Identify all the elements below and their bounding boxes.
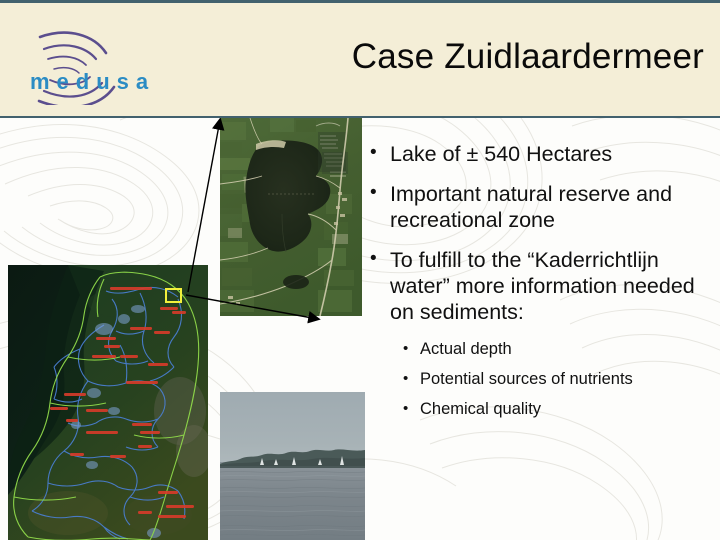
page-title: Case Zuidlaardermeer xyxy=(352,37,704,77)
sub-bullet-list: Actual depth Potential sources of nutrie… xyxy=(368,339,708,420)
bullet-list: Lake of ± 540 Hectares Important natural… xyxy=(368,141,708,429)
bullet-item: To fulfill to the “Kaderrichtlijn water”… xyxy=(368,247,708,325)
sub-bullet-item: Actual depth xyxy=(402,339,708,360)
bullet-item: Lake of ± 540 Hectares xyxy=(368,141,708,167)
lake-shore-photograph xyxy=(220,392,365,540)
medusa-logo: medusa xyxy=(24,25,174,105)
sub-bullet-item: Potential sources of nutrients xyxy=(402,369,708,390)
lake-aerial-satellite-photo xyxy=(220,118,362,316)
bullet-item: Important natural reserve and recreation… xyxy=(368,181,708,233)
netherlands-satellite-map xyxy=(8,265,208,540)
slide-header: medusa Case Zuidlaardermeer xyxy=(0,0,720,118)
sub-bullet-item: Chemical quality xyxy=(402,399,708,420)
logo-wordmark: medusa xyxy=(30,69,155,95)
slide-canvas: medusa Case Zuidlaardermeer xyxy=(0,0,720,540)
